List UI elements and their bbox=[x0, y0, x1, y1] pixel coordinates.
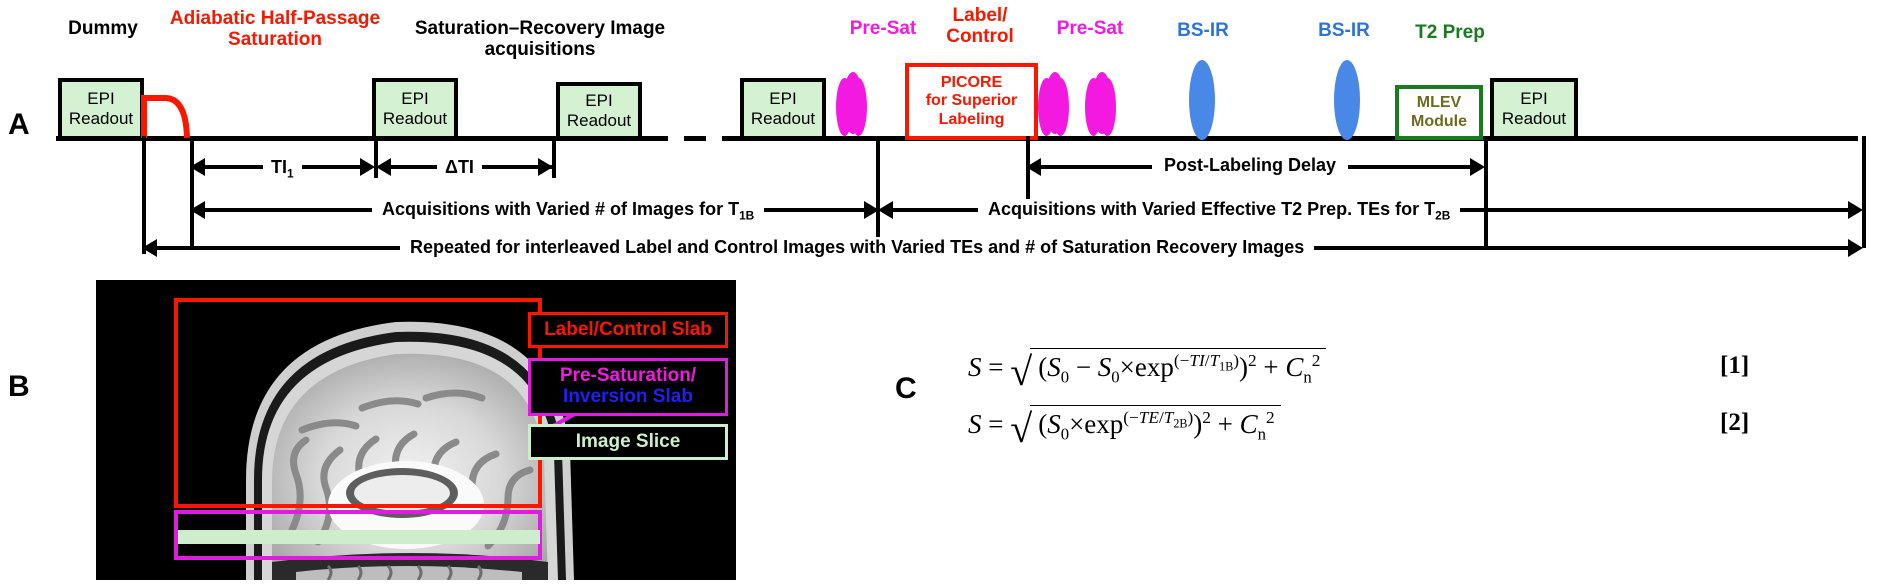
tick-presat1 bbox=[876, 136, 880, 248]
eq1-equals: = bbox=[988, 352, 1003, 382]
epi-readout-2-line1: EPI bbox=[585, 91, 612, 110]
epi-readout-3-block: EPI Readout bbox=[740, 78, 826, 140]
ti1-measurement-label: TI1 bbox=[263, 157, 302, 181]
eq2-plus: + bbox=[1218, 409, 1233, 439]
eq1-s0-sub: 0 bbox=[1061, 367, 1069, 386]
eq1-c: C bbox=[1285, 352, 1303, 382]
repeated-left-head bbox=[142, 239, 157, 257]
eq1-c-sub: n bbox=[1303, 367, 1311, 386]
ti1-arrow-left-head bbox=[190, 158, 205, 176]
epi-readout-dummy-line2: Readout bbox=[69, 109, 133, 128]
tick-saturation bbox=[190, 136, 194, 248]
eq2-expo-den: T bbox=[1164, 408, 1174, 427]
legend-label-control-slab: Label/Control Slab bbox=[528, 312, 728, 348]
epi-readout-4-line2: Readout bbox=[1502, 109, 1566, 128]
equation-1-number: [1] bbox=[1720, 352, 1749, 380]
epi-readout-3-line1: EPI bbox=[769, 89, 796, 108]
delta-ti-measurement-label: ΔTI bbox=[437, 157, 482, 178]
eq1-s0b-sub: 0 bbox=[1111, 367, 1119, 386]
eq1-expo-num: TI bbox=[1189, 351, 1204, 370]
mlev-line1: MLEV bbox=[1417, 94, 1461, 111]
label-t2-prep: T2 Prep bbox=[1390, 22, 1510, 43]
pre-sat-pulse-2-icon bbox=[1038, 72, 1072, 140]
eq1-times: × bbox=[1120, 352, 1135, 382]
epi-readout-2-block: EPI Readout bbox=[556, 82, 642, 140]
eq2-exponent: (−TE/T2B) bbox=[1123, 408, 1193, 427]
eq1-expo-close: ) bbox=[1233, 351, 1239, 370]
epi-readout-dummy-block: EPI Readout bbox=[58, 78, 144, 140]
eq2-equals: = bbox=[988, 409, 1003, 439]
eq2-c-pow: 2 bbox=[1266, 408, 1275, 427]
ti1-label-text: TI bbox=[271, 157, 287, 177]
epi-readout-1-line2: Readout bbox=[383, 109, 447, 128]
tick-t2prep-end bbox=[1484, 136, 1488, 248]
t1b-label-text: Acquisitions with Varied # of Images for… bbox=[382, 199, 739, 219]
t1b-acquisitions-left-head bbox=[190, 201, 205, 219]
eq1-pow: 2 bbox=[1248, 351, 1257, 370]
label-label-control: Label/ Control bbox=[920, 5, 1040, 48]
eq2-times: × bbox=[1069, 409, 1084, 439]
eq1-s0: S bbox=[1047, 352, 1061, 382]
ti1-label-sub: 1 bbox=[287, 167, 294, 181]
timeline-axis-dashed-gap bbox=[646, 136, 742, 141]
ti1-arrow-right-head bbox=[360, 158, 375, 176]
eq2-s0: S bbox=[1047, 409, 1061, 439]
eq2-expo-num: TE bbox=[1139, 408, 1159, 427]
delta-ti-arrow-left-head bbox=[376, 158, 391, 176]
t2b-acquisitions-label: Acquisitions with Varied Effective T2 Pr… bbox=[978, 199, 1460, 223]
label-saturation-recovery: Saturation–Recovery Image acquisitions bbox=[370, 18, 710, 61]
epi-readout-4-block: EPI Readout bbox=[1490, 78, 1578, 140]
pre-sat-pulse-1-icon bbox=[836, 72, 870, 140]
epi-readout-3-line2: Readout bbox=[751, 109, 815, 128]
legend-image-slice: Image Slice bbox=[528, 424, 728, 460]
eq1-exponent: (−TI/T1B) bbox=[1174, 351, 1239, 370]
panel-a-letter: A bbox=[8, 108, 30, 142]
eq1-radical-sign: √ bbox=[1010, 358, 1032, 387]
bs-ir-pulse-2-icon bbox=[1334, 60, 1360, 140]
label-dummy: Dummy bbox=[48, 18, 158, 39]
mlev-line2: Module bbox=[1411, 113, 1467, 130]
post-labeling-delay-label: Post-Labeling Delay bbox=[1152, 155, 1348, 176]
eq1-s0b: S bbox=[1098, 352, 1112, 382]
eq1-expo-den-sub: 1B bbox=[1219, 359, 1233, 373]
eq2-expo-den-sub: 2B bbox=[1173, 416, 1187, 430]
eq2-lhs: S bbox=[968, 409, 982, 439]
eq2-expo-sign: − bbox=[1129, 408, 1139, 427]
epi-readout-2-line2: Readout bbox=[567, 111, 631, 130]
label-adiabatic-half-passage-saturation: Adiabatic Half-Passage Saturation bbox=[160, 8, 390, 51]
equation-2-number: [2] bbox=[1720, 409, 1749, 437]
post-labeling-delay-left-head bbox=[1026, 158, 1041, 176]
delta-ti-arrow-right-head bbox=[538, 158, 553, 176]
eq1-c-pow: 2 bbox=[1312, 351, 1321, 370]
image-slice-bar bbox=[178, 530, 540, 544]
pre-sat-pulse-3-icon bbox=[1085, 72, 1119, 140]
eq1-radicand: (S0 − S0×exp(−TI/T1B))2 + Cn2 bbox=[1030, 348, 1326, 387]
eq1-minus: − bbox=[1076, 352, 1091, 382]
label-bs-ir-2: BS-IR bbox=[1284, 20, 1404, 41]
picore-line3: Labeling bbox=[939, 111, 1005, 128]
eq1-plus: + bbox=[1263, 352, 1278, 382]
t2b-label-sub: 2B bbox=[1435, 209, 1450, 223]
picore-labeling-block: PICORE for Superior Labeling bbox=[905, 63, 1038, 140]
repeated-label: Repeated for interleaved Label and Contr… bbox=[400, 237, 1314, 258]
legend-inversion-line2: Inversion Slab bbox=[563, 386, 693, 407]
t1b-acquisitions-label: Acquisitions with Varied # of Images for… bbox=[372, 199, 764, 223]
eq2-pow: 2 bbox=[1202, 408, 1211, 427]
tick-sequence-end bbox=[1862, 136, 1866, 248]
label-pre-sat-2: Pre-Sat bbox=[1030, 18, 1150, 39]
eq1-exp: exp bbox=[1135, 352, 1174, 382]
bs-ir-pulse-1-icon bbox=[1189, 60, 1215, 140]
label-bs-ir-1: BS-IR bbox=[1143, 20, 1263, 41]
epi-readout-4-line1: EPI bbox=[1520, 89, 1547, 108]
epi-readout-1-line1: EPI bbox=[401, 89, 428, 108]
legend-pre-saturation-line1: Pre-Saturation/ bbox=[560, 365, 696, 386]
eq2-expo-close: ) bbox=[1187, 408, 1193, 427]
eq2-c-sub: n bbox=[1258, 424, 1266, 443]
eq1-expo-den: T bbox=[1210, 351, 1220, 370]
epi-readout-dummy-line1: EPI bbox=[87, 89, 114, 108]
eq2-radicand: (S0×exp(−TE/T2B))2 + Cn2 bbox=[1030, 405, 1280, 444]
eq1-expo-sign: − bbox=[1180, 351, 1190, 370]
t2b-acquisitions-left-head bbox=[878, 201, 893, 219]
equation-2: S = √(S0×exp(−TE/T2B))2 + Cn2 bbox=[968, 405, 1281, 444]
eq2-exp: exp bbox=[1084, 409, 1123, 439]
t1b-acquisitions-right-head bbox=[864, 201, 879, 219]
panel-b-letter: B bbox=[8, 370, 30, 404]
picore-line2: for Superior bbox=[926, 92, 1018, 109]
mlev-module-block: MLEV Module bbox=[1395, 85, 1483, 140]
t1b-label-sub: 1B bbox=[739, 209, 754, 223]
adiabatic-half-passage-pulse-icon bbox=[140, 92, 210, 140]
legend-pre-saturation-inversion-slab: Pre-Saturation/ Inversion Slab bbox=[528, 358, 728, 416]
eq2-s0-sub: 0 bbox=[1061, 424, 1069, 443]
eq2-c: C bbox=[1240, 409, 1258, 439]
equation-1: S = √(S0 − S0×exp(−TI/T1B))2 + Cn2 bbox=[968, 348, 1326, 387]
picore-line1: PICORE bbox=[941, 74, 1002, 91]
t2b-label-text: Acquisitions with Varied Effective T2 Pr… bbox=[988, 199, 1435, 219]
eq2-radical-sign: √ bbox=[1010, 415, 1032, 444]
panel-c-letter: C bbox=[895, 372, 917, 406]
t2b-acquisitions-right-head bbox=[1848, 201, 1863, 219]
epi-readout-1-block: EPI Readout bbox=[372, 78, 458, 140]
repeated-right-head bbox=[1848, 239, 1863, 257]
post-labeling-delay-right-head bbox=[1470, 158, 1485, 176]
label-control-slab-box bbox=[174, 298, 542, 508]
eq1-lhs: S bbox=[968, 352, 982, 382]
